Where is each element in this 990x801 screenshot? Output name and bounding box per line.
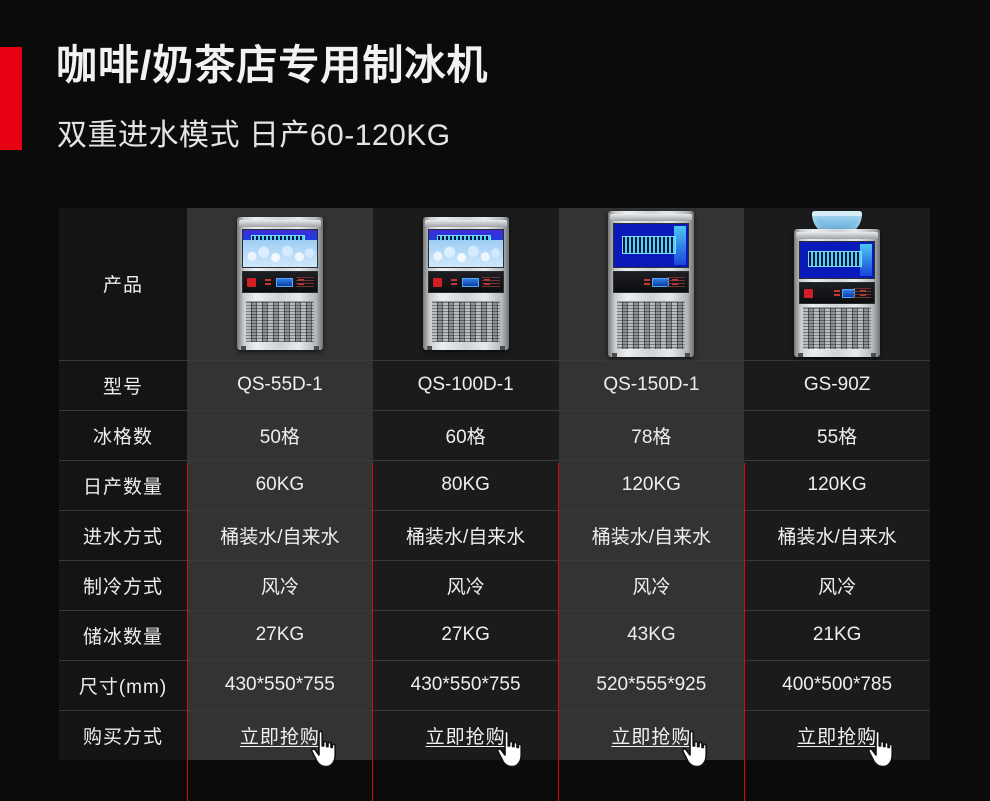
table-row-water-inlet: 进水方式 桶装水/自来水 桶装水/自来水 桶装水/自来水 桶装水/自来水: [59, 510, 930, 560]
buy-now-button-3[interactable]: 立即抢购: [611, 722, 691, 749]
buy-now-button-2[interactable]: 立即抢购: [426, 722, 506, 749]
buy-now-button-4[interactable]: 立即抢购: [797, 722, 877, 749]
cell-model-3: QS-150D-1: [559, 360, 745, 410]
ice-machine-with-ice-bin-icon: [237, 217, 323, 350]
cell-ice-cells-1: 50格: [187, 410, 373, 460]
page-header: 咖啡/奶茶店专用制冰机 双重进水模式 日产60-120KG: [0, 0, 990, 190]
page-title: 咖啡/奶茶店专用制冰机: [56, 43, 488, 88]
row-label-cooling: 制冷方式: [59, 560, 187, 610]
cell-daily-output-3: 120KG: [559, 460, 745, 510]
cell-ice-cells-3: 78格: [559, 410, 745, 460]
ice-machine-with-ice-bin-icon: [423, 217, 509, 350]
cell-purchase-4: 立即抢购: [744, 710, 930, 760]
page-subtitle: 双重进水模式 日产60-120KG: [57, 110, 451, 154]
row-label-ice-storage: 储冰数量: [59, 610, 187, 660]
cell-cooling-1: 风冷: [187, 560, 373, 610]
cell-daily-output-4: 120KG: [744, 460, 930, 510]
cell-cooling-4: 风冷: [744, 560, 930, 610]
cell-daily-output-2: 80KG: [373, 460, 559, 510]
cell-ice-storage-4: 21KG: [744, 610, 930, 660]
table-row-purchase: 购买方式 立即抢购 立即抢购 立即抢购: [59, 710, 930, 760]
ice-machine-lit-evaporator-icon: [608, 211, 694, 357]
cell-purchase-1: 立即抢购: [187, 710, 373, 760]
cell-cooling-3: 风冷: [559, 560, 745, 610]
cell-ice-storage-3: 43KG: [559, 610, 745, 660]
row-label-purchase: 购买方式: [59, 710, 187, 760]
buy-now-button-1[interactable]: 立即抢购: [240, 722, 320, 749]
product-image-cell-4: [744, 208, 930, 360]
product-image-cell-2: [373, 208, 559, 360]
cell-model-1: QS-55D-1: [187, 360, 373, 410]
cell-water-inlet-4: 桶装水/自来水: [744, 510, 930, 560]
cell-daily-output-1: 60KG: [187, 460, 373, 510]
cell-ice-cells-4: 55格: [744, 410, 930, 460]
row-label-model: 型号: [59, 360, 187, 410]
row-label-water-inlet: 进水方式: [59, 510, 187, 560]
red-accent-bar: [0, 47, 22, 150]
product-image-cell-1: [187, 208, 373, 360]
table-row-daily-output: 日产数量 60KG 80KG 120KG 120KG: [59, 460, 930, 510]
row-label-ice-cells: 冰格数: [59, 410, 187, 460]
product-comparison-page: 咖啡/奶茶店专用制冰机 双重进水模式 日产60-120KG 产品: [0, 0, 990, 801]
cell-purchase-3: 立即抢购: [559, 710, 745, 760]
cell-dimensions-3: 520*555*925: [559, 660, 745, 710]
table-row-ice-storage: 储冰数量 27KG 27KG 43KG 21KG: [59, 610, 930, 660]
cell-water-inlet-3: 桶装水/自来水: [559, 510, 745, 560]
table-row-dimensions: 尺寸(mm) 430*550*755 430*550*755 520*555*9…: [59, 660, 930, 710]
cell-purchase-2: 立即抢购: [373, 710, 559, 760]
row-label-dimensions: 尺寸(mm): [59, 660, 187, 710]
row-label-daily-output: 日产数量: [59, 460, 187, 510]
cell-water-inlet-1: 桶装水/自来水: [187, 510, 373, 560]
cell-dimensions-4: 400*500*785: [744, 660, 930, 710]
ice-machine-with-water-jug-icon: [794, 211, 880, 357]
cell-dimensions-2: 430*550*755: [373, 660, 559, 710]
row-label-product: 产品: [59, 208, 187, 360]
cell-ice-storage-1: 27KG: [187, 610, 373, 660]
table-row-cooling: 制冷方式 风冷 风冷 风冷 风冷: [59, 560, 930, 610]
product-image-cell-3: [559, 208, 745, 360]
table-row-product-image: 产品: [59, 208, 930, 360]
cell-model-2: QS-100D-1: [373, 360, 559, 410]
table-row-ice-cells: 冰格数 50格 60格 78格 55格: [59, 410, 930, 460]
cell-ice-storage-2: 27KG: [373, 610, 559, 660]
spec-comparison-table: 产品: [59, 208, 930, 756]
table-row-model: 型号 QS-55D-1 QS-100D-1 QS-150D-1 GS-90Z: [59, 360, 930, 410]
cell-water-inlet-2: 桶装水/自来水: [373, 510, 559, 560]
cell-dimensions-1: 430*550*755: [187, 660, 373, 710]
cell-ice-cells-2: 60格: [373, 410, 559, 460]
cell-model-4: GS-90Z: [744, 360, 930, 410]
cell-cooling-2: 风冷: [373, 560, 559, 610]
